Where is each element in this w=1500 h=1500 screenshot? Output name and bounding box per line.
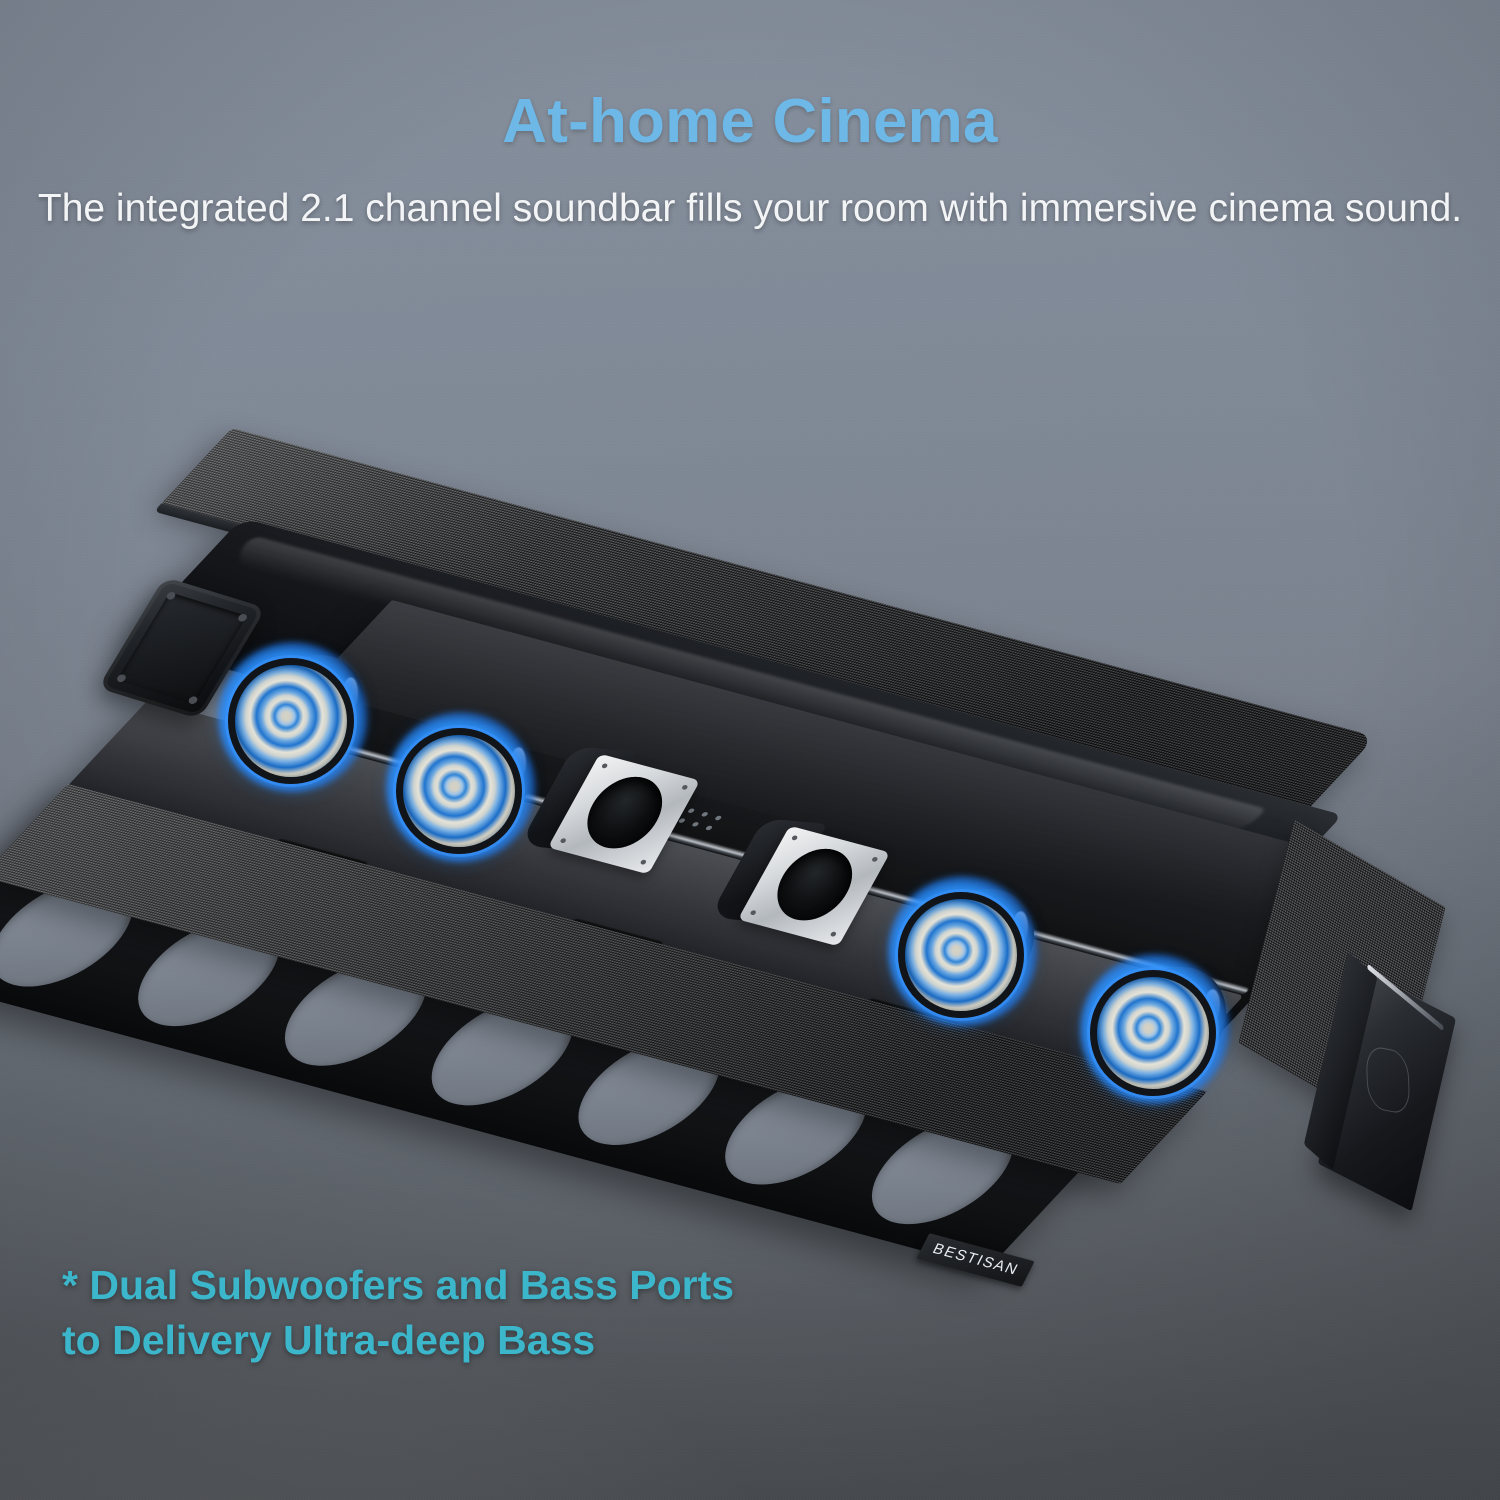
led-dot bbox=[691, 821, 700, 826]
header-block: At-home Cinema The integrated 2.1 channe… bbox=[0, 0, 1500, 235]
driver-rim bbox=[1090, 970, 1216, 1096]
page-subtitle: The integrated 2.1 channel soundbar fill… bbox=[0, 183, 1500, 235]
driver-2 bbox=[396, 722, 530, 856]
driver-1 bbox=[228, 652, 362, 786]
page-title: At-home Cinema bbox=[0, 86, 1500, 157]
led-dot bbox=[687, 808, 696, 813]
end-cap-emboss bbox=[1365, 1045, 1410, 1116]
driver-3 bbox=[898, 886, 1032, 1020]
driver-rim bbox=[898, 892, 1024, 1018]
feature-callout: * Dual Subwoofers and Bass Ports to Deli… bbox=[62, 1258, 734, 1368]
driver-4 bbox=[1090, 964, 1224, 1098]
driver-rim bbox=[228, 658, 354, 784]
led-indicator-group bbox=[678, 808, 725, 831]
part-right-end-cap bbox=[1318, 971, 1456, 1212]
led-dot bbox=[701, 811, 710, 816]
led-dot bbox=[705, 825, 714, 830]
driver-rim bbox=[396, 728, 522, 854]
led-dot bbox=[714, 815, 723, 820]
